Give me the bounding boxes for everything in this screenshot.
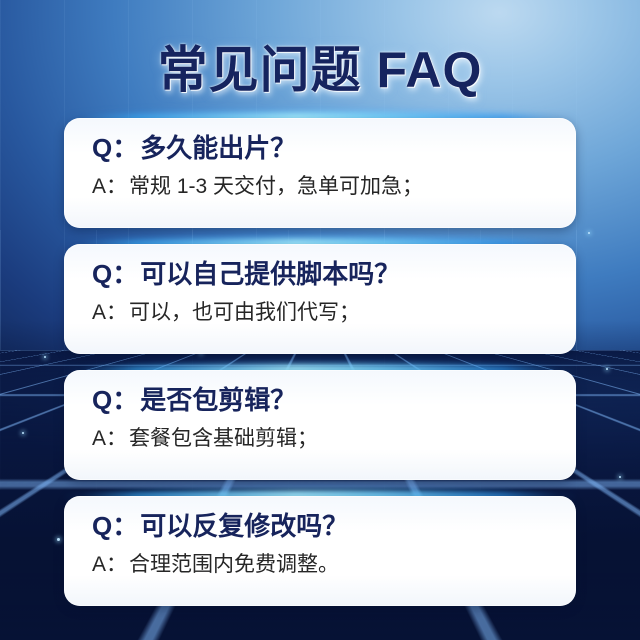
faq-card-body[interactable]: Q：多久能出片？ A：常规 1-3 天交付，急单可加急；: [64, 118, 576, 228]
answer-label: A：: [92, 301, 127, 324]
answer-text: 常规 1-3 天交付，急单可加急；: [129, 175, 423, 198]
question-text: 可以反复修改吗？: [140, 511, 348, 541]
faq-question-line: Q：可以自己提供脚本吗？: [92, 260, 576, 289]
answer-text: 合理范围内免费调整。: [129, 553, 339, 576]
faq-answer-line: A：套餐包含基础剪辑；: [92, 427, 576, 451]
faq-card-body[interactable]: Q：是否包剪辑？ A：套餐包含基础剪辑；: [64, 370, 576, 480]
faq-card-body[interactable]: Q：可以反复修改吗？ A：合理范围内免费调整。: [64, 496, 576, 606]
faq-poster: 常见问题 FAQ Q：多久能出片？ A：常规 1-3 天交付，急单可加急； Q：…: [0, 0, 640, 640]
faq-answer-line: A：可以，也可由我们代写；: [92, 301, 576, 325]
faq-question-line: Q：多久能出片？: [92, 134, 576, 163]
faq-card[interactable]: Q：多久能出片？ A：常规 1-3 天交付，急单可加急；: [64, 118, 576, 228]
question-label: Q：: [92, 511, 138, 541]
faq-card[interactable]: Q：可以反复修改吗？ A：合理范围内免费调整。: [64, 496, 576, 606]
answer-label: A：: [92, 175, 127, 198]
faq-question-line: Q：是否包剪辑？: [92, 386, 576, 415]
question-label: Q：: [92, 133, 138, 163]
question-label: Q：: [92, 259, 138, 289]
faq-question-line: Q：可以反复修改吗？: [92, 512, 576, 541]
faq-card-list: Q：多久能出片？ A：常规 1-3 天交付，急单可加急； Q：可以自己提供脚本吗…: [0, 118, 640, 622]
question-text: 是否包剪辑？: [140, 385, 296, 415]
faq-answer-line: A：合理范围内免费调整。: [92, 553, 576, 577]
answer-label: A：: [92, 553, 127, 576]
question-text: 可以自己提供脚本吗？: [140, 259, 400, 289]
answer-label: A：: [92, 427, 127, 450]
answer-text: 可以，也可由我们代写；: [129, 301, 360, 324]
question-text: 多久能出片？: [140, 133, 296, 163]
answer-text: 套餐包含基础剪辑；: [129, 427, 318, 450]
page-title: 常见问题 FAQ: [0, 30, 640, 102]
faq-answer-line: A：常规 1-3 天交付，急单可加急；: [92, 175, 576, 199]
faq-card[interactable]: Q：是否包剪辑？ A：套餐包含基础剪辑；: [64, 370, 576, 480]
faq-card-body[interactable]: Q：可以自己提供脚本吗？ A：可以，也可由我们代写；: [64, 244, 576, 354]
faq-card[interactable]: Q：可以自己提供脚本吗？ A：可以，也可由我们代写；: [64, 244, 576, 354]
question-label: Q：: [92, 385, 138, 415]
